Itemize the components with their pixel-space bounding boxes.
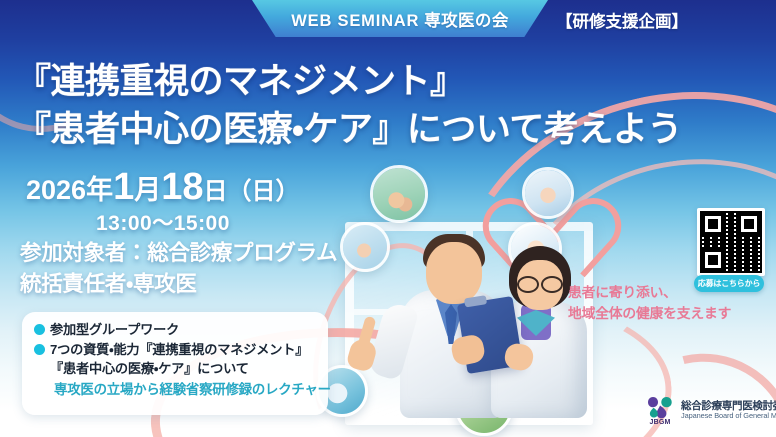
glasses-icon: [517, 276, 563, 289]
bullet-2-sub-label: 『患者中心の医療・ケア』について: [50, 360, 316, 378]
list-item: 参加型グループワーク: [34, 321, 316, 339]
photo-bubble-consult: [522, 167, 574, 219]
tab-label-jp: 専攻医の会: [424, 12, 509, 30]
qr-code-image: [700, 211, 762, 273]
organization-logo: JBGM 総合診療専門医検討委員会 Japanese Board of Gene…: [645, 394, 776, 426]
apply-here-badge[interactable]: 応募はこちらから: [694, 275, 764, 292]
qr-finder-bottom-left: [702, 249, 724, 271]
photo-bubble-patient: [340, 222, 390, 272]
jbgm-abbreviation: JBGM: [645, 419, 675, 426]
bullet-dot-icon: [34, 324, 45, 335]
event-date: 2026年1月18日（日）: [26, 166, 300, 209]
page-title: 『連携重視のマネジメント』 『患者中心の医療・ケア』について考えよう: [16, 58, 682, 155]
web-seminar-tab: WEB SEMINAR 専攻医の会: [252, 0, 548, 37]
title-line-2: 『患者中心の医療・ケア』について考えよう: [16, 106, 682, 154]
event-time: 13:00〜15:00: [96, 207, 230, 237]
bullet-2-label: 7つの資質・能力『連携重視のマネジメント』: [50, 341, 308, 359]
organization-name-en: Japanese Board of General Medicine: [681, 412, 776, 421]
web-seminar-tab-label: WEB SEMINAR 専攻医の会: [291, 7, 508, 31]
list-item: 7つの資質・能力『連携重視のマネジメント』: [34, 341, 316, 359]
jbgm-mark-icon: JBGM: [645, 394, 675, 426]
organization-name: 総合診療専門医検討委員会 Japanese Board of General M…: [681, 400, 776, 421]
program-highlights-card: 参加型グループワーク 7つの資質・能力『連携重視のマネジメント』 『患者中心の医…: [22, 312, 328, 415]
audience-line-2: 統括責任者・専攻医: [20, 269, 337, 300]
title-line-1: 『連携重視のマネジメント』: [16, 58, 682, 106]
date-weekday: （日）: [228, 178, 300, 205]
tagline-line-2: 地域全体の健康を支えます: [568, 303, 731, 324]
seminar-poster: WEB SEMINAR 専攻医の会 【研修支援企画】 『連携重視のマネジメント』…: [0, 0, 776, 437]
qr-finder-top-right: [738, 213, 760, 235]
date-month-number: 1: [113, 166, 134, 208]
organization-name-jp: 総合診療専門医検討委員会: [681, 400, 776, 412]
qr-code[interactable]: [697, 208, 765, 276]
date-day-unit: 日: [204, 178, 228, 205]
bullet-1-label: 参加型グループワーク: [50, 321, 179, 339]
date-day-number: 18: [161, 166, 203, 208]
bullet-dot-icon: [34, 344, 45, 355]
bracket-label: 【研修支援企画】: [556, 8, 688, 32]
target-audience: 参加対象者：総合診療プログラム 統括責任者・専攻医: [20, 238, 337, 299]
bullet-2-teal-label: 専攻医の立場から経験省察研修録のレクチャー: [54, 381, 316, 398]
qr-finder-top-left: [702, 213, 724, 235]
audience-line-1: 参加対象者：総合診療プログラム: [20, 238, 337, 269]
tab-label-en: WEB SEMINAR: [291, 12, 419, 30]
date-year: 2026年: [26, 175, 113, 205]
date-month-unit: 月: [134, 175, 161, 205]
photo-bubble-family: [370, 165, 428, 223]
